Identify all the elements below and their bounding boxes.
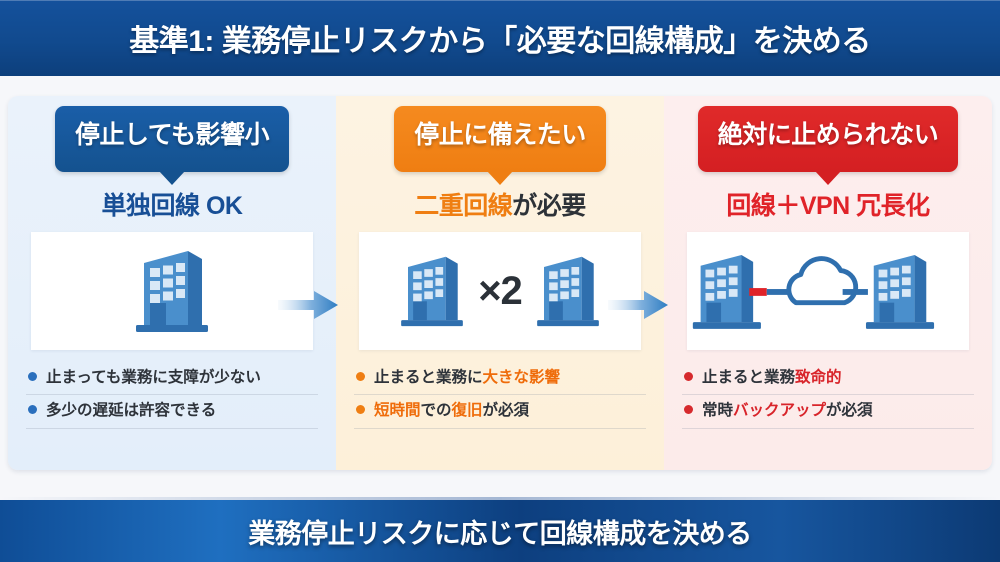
office-building-icon xyxy=(866,255,934,329)
bullet-dot-icon xyxy=(28,405,37,414)
column-title-3: 回線＋VPN 冗長化 xyxy=(664,186,992,222)
bullet-dot-icon xyxy=(684,405,693,414)
multiplier-label: ×2 xyxy=(478,271,522,311)
illustration-card-3 xyxy=(687,232,969,350)
bullet-dot-icon xyxy=(356,372,365,381)
list-item: 多少の遅延は許容できる xyxy=(26,395,318,428)
badge-prepare: 停止に備えたい xyxy=(394,106,606,172)
badge-low-impact-label: 停止しても影響小 xyxy=(75,121,269,149)
header-banner: 基準1: 業務停止リスクから「必要な回線構成」を決める xyxy=(0,0,1000,76)
failed-link-indicator xyxy=(749,288,767,296)
columns-container: 停止しても影響小 単独回線 OK xyxy=(8,96,992,470)
bullet-dot-icon xyxy=(684,372,693,381)
illustration-card-2: ×2 xyxy=(359,232,641,350)
footer-text: 業務停止リスクに応じて回線構成を決める xyxy=(248,512,752,551)
bullet-dot-icon xyxy=(28,372,37,381)
list-item: 止まると業務致命的 xyxy=(682,362,974,395)
list-item: 短時間での復旧が必須 xyxy=(354,395,646,428)
badge-pointer-icon xyxy=(159,171,185,185)
column-title-2-rest: が必要 xyxy=(512,192,586,220)
redundant-network-diagram xyxy=(687,241,969,341)
list-item: 止まると業務に大きな影響 xyxy=(354,362,646,395)
page-title: 基準1: 業務停止リスクから「必要な回線構成」を決める xyxy=(129,16,871,60)
column-low-impact: 停止しても影響小 単独回線 OK xyxy=(8,96,336,470)
cloud-icon xyxy=(789,259,856,303)
badge-pointer-icon xyxy=(815,171,841,185)
list-item: 常時バックアップが必須 xyxy=(682,395,974,428)
office-building-icon xyxy=(130,243,214,339)
illustration-card-1 xyxy=(31,232,313,350)
badge-wrap-1: 停止しても影響小 xyxy=(8,96,336,172)
column-title-2: 二重回線が必要 xyxy=(336,186,664,222)
office-building-icon xyxy=(396,246,468,336)
badge-pointer-icon xyxy=(487,171,513,185)
list-item: 止まっても業務に支障が少ない xyxy=(26,362,318,395)
bullet-text: 止まっても業務に支障が少ない xyxy=(46,368,261,387)
badge-critical: 絶対に止められない xyxy=(698,106,959,172)
column-title-3-text: 回線＋VPN 冗長化 xyxy=(726,192,929,220)
office-building-icon xyxy=(532,246,604,336)
badge-critical-label: 絶対に止められない xyxy=(718,121,939,149)
badge-wrap-2: 停止に備えたい xyxy=(336,96,664,172)
bullet-dot-icon xyxy=(356,405,365,414)
slide-root: 基準1: 業務停止リスクから「必要な回線構成」を決める 停止しても影響小 単独回… xyxy=(0,0,1000,562)
bullet-list-2: 止まると業務に大きな影響 短時間での復旧が必須 xyxy=(354,362,646,429)
column-prepare: 停止に備えたい 二重回線が必要 xyxy=(336,96,664,470)
link-right xyxy=(843,289,868,295)
link-left xyxy=(767,289,788,295)
footer-banner: 業務停止リスクに応じて回線構成を決める xyxy=(0,500,1000,562)
bullet-text: 短時間での復旧が必須 xyxy=(374,401,529,420)
column-title-1: 単独回線 OK xyxy=(8,186,336,222)
bullet-list-1: 止まっても業務に支障が少ない 多少の遅延は許容できる xyxy=(26,362,318,429)
bullet-text: 止まると業務に大きな影響 xyxy=(374,368,560,387)
bullet-text: 多少の遅延は許容できる xyxy=(46,401,216,420)
bullet-list-3: 止まると業務致命的 常時バックアップが必須 xyxy=(682,362,974,429)
badge-low-impact: 停止しても影響小 xyxy=(55,106,289,172)
bullet-text: 止まると業務致命的 xyxy=(702,368,842,387)
column-title-1-text: 単独回線 OK xyxy=(102,192,243,220)
column-title-2-highlight: 二重回線 xyxy=(414,192,512,220)
bullet-text: 常時バックアップが必須 xyxy=(702,401,873,420)
badge-prepare-label: 停止に備えたい xyxy=(414,121,586,149)
badge-wrap-3: 絶対に止められない xyxy=(664,96,992,172)
column-critical: 絶対に止められない 回線＋VPN 冗長化 xyxy=(664,96,992,470)
